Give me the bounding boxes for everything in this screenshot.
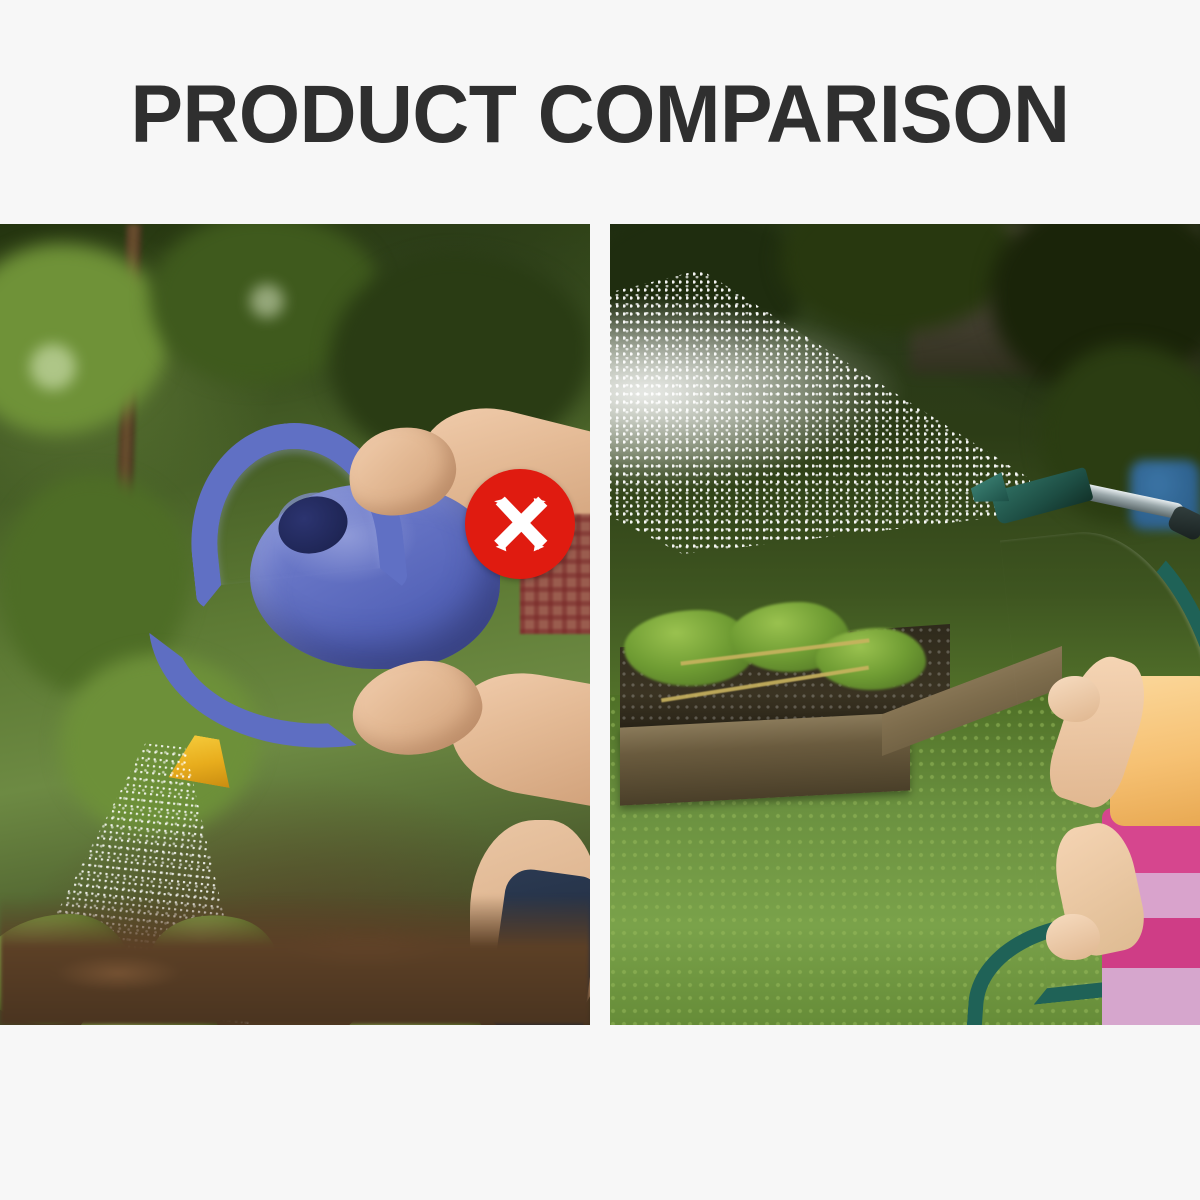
- bokeh-highlight: [250, 284, 284, 318]
- cross-icon: [482, 486, 558, 562]
- child-hand: [1046, 914, 1100, 960]
- bed-front-board: [620, 712, 910, 805]
- foliage-blob: [0, 244, 170, 434]
- garden-mulch: [0, 895, 590, 1025]
- page-title: PRODUCT COMPARISON: [24, 74, 1176, 156]
- comparison-panel-negative: Water irrigation work with difficulty an…: [0, 224, 590, 1025]
- bokeh-highlight: [30, 344, 76, 390]
- comparison-panel-positive: Whether too high or too far , can be eas…: [610, 224, 1200, 1025]
- bed-plant: [816, 628, 926, 690]
- child-hand: [1048, 676, 1100, 722]
- cross-badge: [465, 469, 575, 579]
- raised-garden-bed: [620, 624, 1050, 824]
- hose-spray-photo: [610, 224, 1200, 1025]
- watering-can-photo: [0, 224, 590, 1025]
